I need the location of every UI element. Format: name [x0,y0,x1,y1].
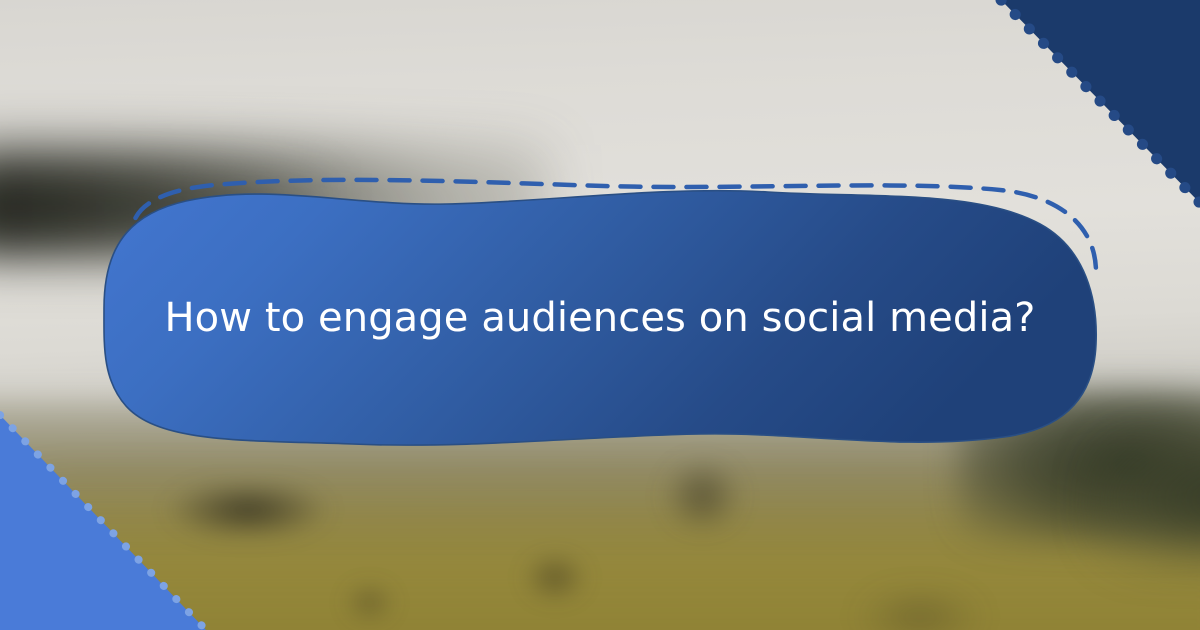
background-shrub-a [165,485,331,535]
background-shrub-e [856,592,984,630]
background-shrub-b [664,464,741,528]
social-media-question-card: How to engage audiences on social media? [0,0,1200,630]
background-bush-right-secondary [1086,429,1200,571]
question-headline: How to engage audiences on social media? [110,293,1089,343]
headline-container: How to engage audiences on social media? [110,196,1090,440]
background-shrub-d [344,585,395,621]
background-shrub-c [523,556,587,599]
